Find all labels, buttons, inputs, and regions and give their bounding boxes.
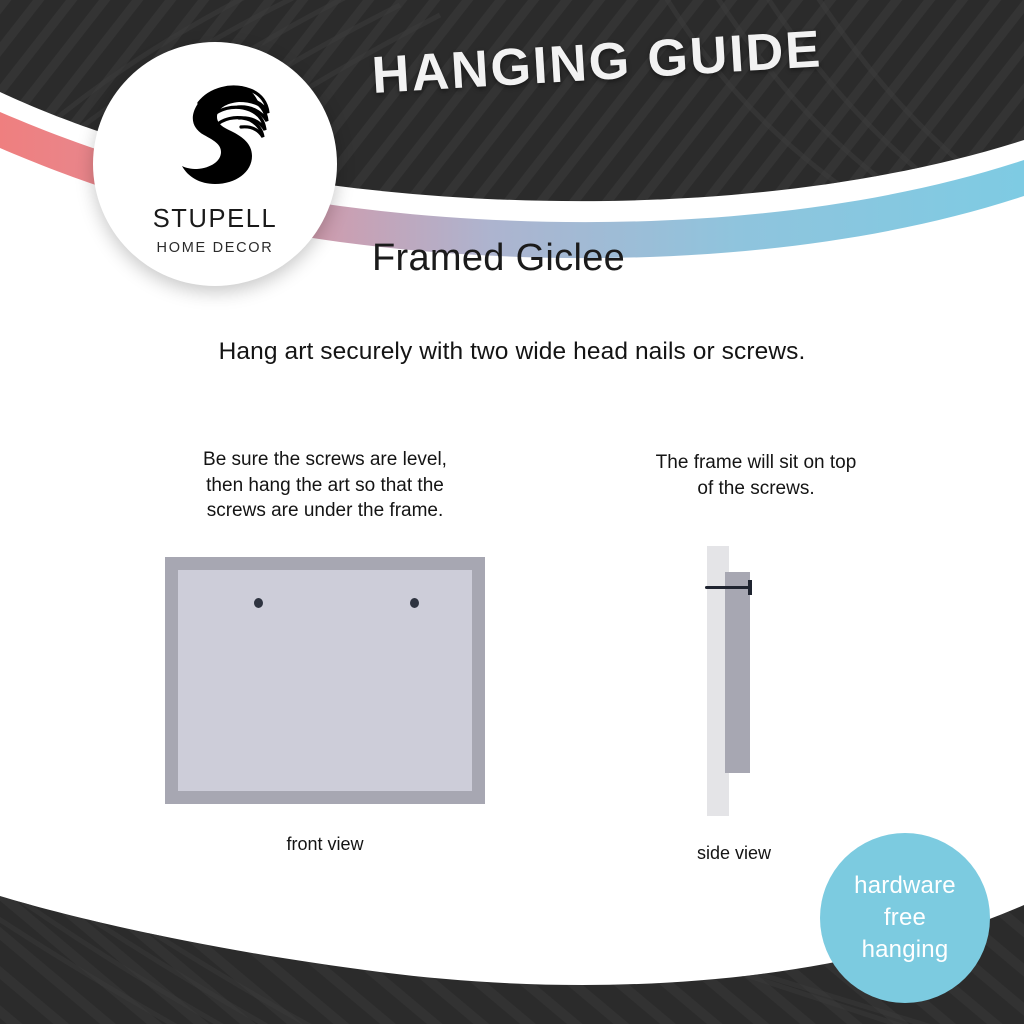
side-view-caption: The frame will sit on top of the screws.	[600, 450, 912, 501]
side-view-caption-line-2: of the screws.	[600, 476, 912, 502]
side-view-caption-line-1: The frame will sit on top	[600, 450, 912, 476]
hanging-guide-page: HANGING GUIDE STUPELL HOME DECOR Framed …	[0, 0, 1024, 1024]
front-view-caption-line-3: screws are under the frame.	[160, 498, 490, 524]
side-view-diagram	[707, 546, 769, 816]
front-view-caption: Be sure the screws are level, then hang …	[160, 447, 490, 524]
instruction-headline: Hang art securely with two wide head nai…	[0, 338, 1024, 366]
hardware-free-badge: hardware free hanging	[820, 833, 990, 1003]
screw-dot-left-icon	[254, 598, 263, 608]
front-view-artwork-area	[178, 570, 472, 791]
side-view-label: side view	[620, 843, 848, 864]
page-title: HANGING GUIDE	[370, 15, 893, 106]
brand-name: STUPELL	[93, 205, 337, 234]
side-view-frame	[725, 572, 750, 773]
nail-head-icon	[748, 580, 752, 595]
brand-tagline: HOME DECOR	[93, 240, 337, 256]
badge-line-2: free	[854, 902, 956, 934]
badge-line-3: hanging	[854, 934, 956, 966]
front-view-label: front view	[160, 834, 490, 855]
front-view-diagram	[165, 557, 485, 804]
brand-logo-badge: STUPELL HOME DECOR	[93, 42, 337, 286]
stupell-swoosh-icon	[155, 72, 275, 194]
hardware-free-badge-text: hardware free hanging	[854, 870, 956, 966]
product-type-title: Framed Giclee	[372, 237, 625, 280]
screw-dot-right-icon	[410, 598, 419, 608]
front-view-caption-line-2: then hang the art so that the	[160, 473, 490, 499]
front-view-caption-line-1: Be sure the screws are level,	[160, 447, 490, 473]
nail-shaft-icon	[705, 586, 750, 589]
badge-line-1: hardware	[854, 870, 956, 902]
